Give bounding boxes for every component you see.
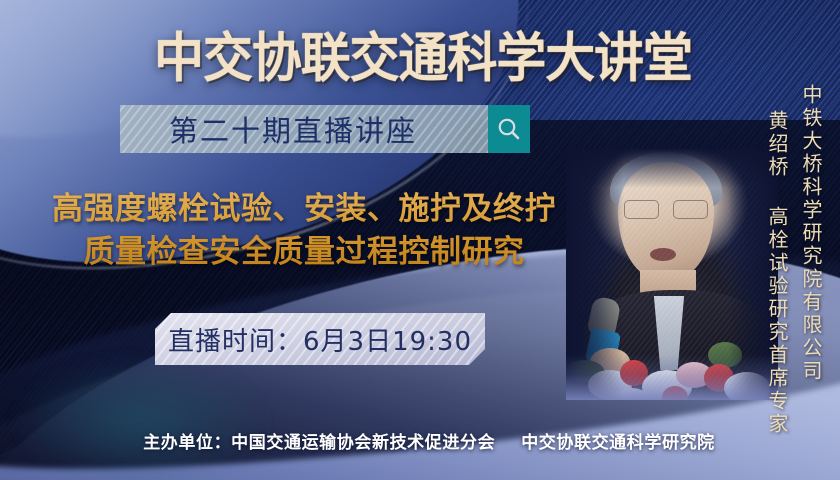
lecture-headline-line-1: 高强度螺栓试验、安装、施拧及终拧 — [8, 188, 600, 231]
broadcast-time-badge: 直播时间：6月3日19:30 — [155, 313, 485, 365]
episode-banner: 第二十期直播讲座 — [120, 105, 530, 153]
footer-organizers: 主办单位：中国交通运输协会新技术促进分会中交协联交通科学研究院 — [0, 428, 840, 453]
search-button[interactable] — [488, 105, 530, 153]
footer-organizer-primary: 主办单位：中国交通运输协会新技术促进分会 — [143, 433, 495, 453]
lecture-headline-line-2: 质量检查安全质量过程控制研究 — [8, 231, 600, 274]
lecture-headline: 高强度螺栓试验、安装、施拧及终拧 质量检查安全质量过程控制研究 — [8, 188, 600, 274]
photo-fade-bottom — [566, 354, 778, 400]
broadcast-time-label: 直播时间：6月3日19:30 — [168, 321, 472, 358]
search-icon — [496, 116, 522, 142]
footer-organizer-secondary: 中交协联交通科学研究院 — [521, 433, 715, 453]
page-title: 中交协联交通科学大讲堂 — [136, 22, 709, 86]
speaker-organization: 中铁大桥科学研究院有限公司 — [797, 84, 826, 383]
episode-label: 第二十期直播讲座 — [120, 108, 488, 150]
live-stream-poster: 中交协联交通科学大讲堂 第二十期直播讲座 高强度螺栓试验、安装、施拧及终拧 质量… — [0, 0, 840, 480]
speaker-name-role: 黄绍桥 高栓试验研究首席专家 — [763, 110, 792, 436]
speaker-photo — [566, 148, 778, 400]
